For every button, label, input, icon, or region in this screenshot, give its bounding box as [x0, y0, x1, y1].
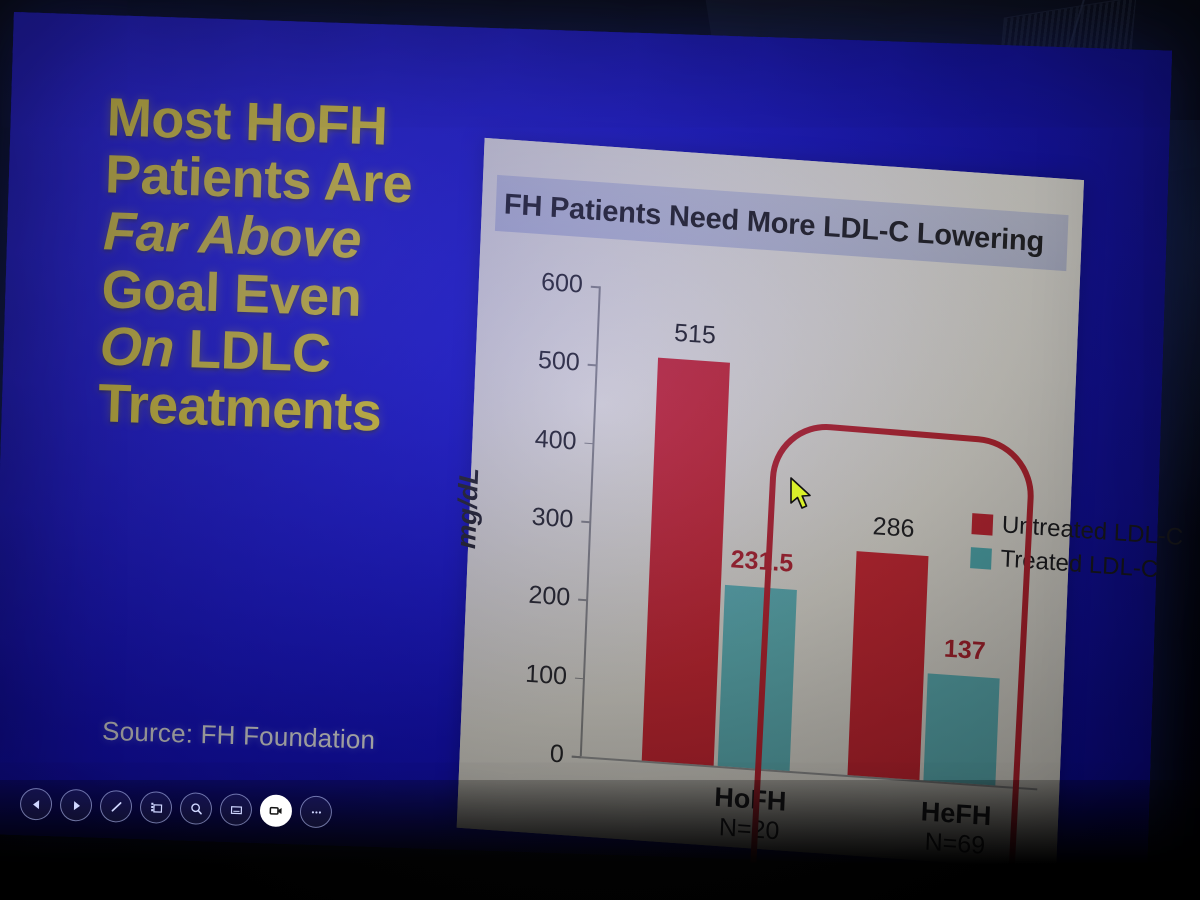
record-video-button[interactable]	[260, 794, 293, 827]
grid-slides-icon	[148, 800, 163, 815]
headline-word-on: On	[99, 316, 175, 378]
next-slide-button[interactable]	[60, 789, 93, 822]
triangle-left-icon	[29, 797, 42, 810]
y-tick-label-600: 600	[492, 264, 583, 299]
y-tick-label-400: 400	[486, 421, 577, 456]
slide-grid-button[interactable]	[140, 791, 173, 824]
ellipsis-icon	[308, 804, 323, 819]
plot-area: 0100200300400500600 mg/dL 515231.5286137…	[580, 286, 1039, 787]
page-title: Most HoFH Patients Are Far Above Goal Ev…	[97, 89, 537, 447]
pen-annotate-button[interactable]	[100, 790, 133, 823]
y-axis-title: mg/dL	[451, 467, 485, 550]
black-screen-button[interactable]	[220, 793, 253, 826]
camera-video-icon	[268, 803, 284, 819]
triangle-right-icon	[69, 799, 82, 812]
more-options-button[interactable]	[300, 795, 333, 828]
y-tick-label-500: 500	[489, 343, 580, 378]
y-tick-label-300: 300	[483, 499, 574, 534]
pen-icon	[108, 799, 123, 814]
previous-slide-button[interactable]	[20, 788, 53, 821]
projection-screen-wrap: Most HoFH Patients Are Far Above Goal Ev…	[0, 0, 1200, 900]
zoom-magnify-button[interactable]	[180, 792, 213, 825]
bar-value-label-hofh-untreated: 515	[661, 317, 730, 351]
magnifier-icon	[188, 801, 203, 816]
y-axis-tick-labels: 0100200300400500600	[472, 279, 583, 755]
photo-of-projected-slide: Most HoFH Patients Are Far Above Goal Ev…	[0, 0, 1200, 900]
y-tick-label-100: 100	[477, 656, 568, 691]
screen-icon	[228, 802, 243, 817]
mouse-cursor-icon	[789, 477, 815, 511]
projected-slide: Most HoFH Patients Are Far Above Goal Ev…	[0, 12, 1172, 873]
y-tick-label-0: 0	[473, 734, 564, 769]
y-tick-label-200: 200	[480, 578, 571, 613]
chart-panel: FH Patients Need More LDL-C Lowering 010…	[457, 138, 1084, 870]
bar-hofh-untreated	[642, 357, 730, 765]
